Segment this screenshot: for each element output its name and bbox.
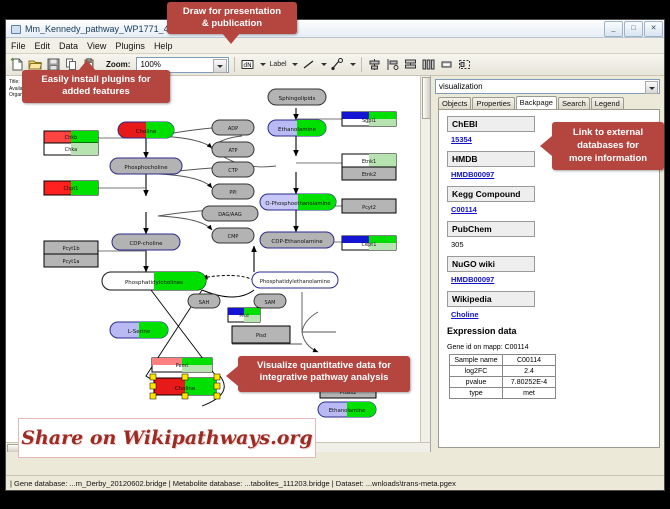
gene-pcyt2: Pcyt2 bbox=[342, 199, 396, 213]
title-bar: Mm_Kennedy_pathway_WP1771_45176.gpml _ □… bbox=[6, 20, 664, 38]
node-ethanolamine-bottom: Ethanolamine bbox=[318, 402, 376, 417]
svg-text:ADP: ADP bbox=[228, 126, 238, 132]
stack-icon[interactable] bbox=[403, 57, 418, 72]
gene-sgpl1: Sgpl1 bbox=[342, 112, 396, 126]
align-center-icon[interactable] bbox=[367, 57, 382, 72]
svg-text:Phosphocholine: Phosphocholine bbox=[124, 165, 168, 171]
node-phosphatidylcholines: Phosphatidylcholines bbox=[102, 272, 206, 290]
svg-text:Pisd: Pisd bbox=[256, 333, 266, 339]
gene-etnk1: Etnk1 bbox=[342, 154, 396, 167]
svg-text:DAG/AAG: DAG/AAG bbox=[218, 212, 242, 218]
table-row: type met bbox=[450, 388, 556, 399]
callout-links-line2: databases for bbox=[577, 140, 639, 151]
node-sphingolipids: Sphingolipids bbox=[268, 89, 326, 105]
node-cmp: CMP bbox=[212, 228, 254, 243]
node-cdp-ethanolamine: CDP-Ethanolamine bbox=[260, 232, 334, 248]
visualization-value: visualization bbox=[439, 82, 483, 91]
svg-text:O-Phosphoethanolamine: O-Phosphoethanolamine bbox=[265, 201, 330, 207]
gene-pemt: Pemt bbox=[152, 358, 212, 372]
svg-text:Chkb: Chkb bbox=[65, 135, 78, 141]
svg-text:Chpt1: Chpt1 bbox=[64, 186, 79, 192]
callout-visualize-line1: Visualize quantitative data for bbox=[257, 360, 391, 371]
node-phosphocholine: Phosphocholine bbox=[110, 158, 182, 174]
maximize-button[interactable]: □ bbox=[624, 21, 643, 37]
section-header-pubchem: PubChem bbox=[447, 221, 535, 237]
gene-etnk2: Etnk2 bbox=[342, 167, 396, 180]
svg-text:CTP: CTP bbox=[228, 168, 238, 174]
cell-label-log2fc: log2FC bbox=[450, 366, 503, 377]
node-atp: ATP bbox=[212, 142, 254, 157]
section-header-wikipedia: Wikipedia bbox=[447, 291, 535, 307]
align-left-icon[interactable] bbox=[385, 57, 400, 72]
node-adp: ADP bbox=[212, 120, 254, 135]
cell-label-type: type bbox=[450, 388, 503, 399]
line-dropdown[interactable] bbox=[319, 56, 327, 74]
callout-plugins: Easily install plugins for added feature… bbox=[22, 70, 170, 103]
menu-item-edit[interactable]: Edit bbox=[35, 41, 51, 51]
callout-links-line3: more information bbox=[569, 153, 647, 164]
node-sah: SAH bbox=[188, 294, 220, 308]
svg-text:Pcyt1a: Pcyt1a bbox=[63, 259, 80, 265]
share-banner: Share on Wikipathways.org bbox=[18, 418, 316, 458]
menu-item-data[interactable]: Data bbox=[59, 41, 78, 51]
table-row: pvalue 7.80252E-4 bbox=[450, 377, 556, 388]
cell-value-type: met bbox=[503, 388, 556, 399]
menu-bar: File Edit Data View Plugins Help bbox=[6, 38, 664, 54]
svg-text:Pcyt2: Pcyt2 bbox=[362, 205, 376, 211]
window-controls: _ □ ✕ bbox=[604, 21, 664, 37]
share-banner-text: Share on Wikipathways.org bbox=[21, 427, 312, 449]
svg-text:Sgpl1: Sgpl1 bbox=[362, 118, 376, 124]
toolbar-separator bbox=[234, 57, 235, 72]
callout-draw-line1: Draw for presentation bbox=[183, 6, 281, 17]
svg-text:ATP: ATP bbox=[228, 148, 237, 154]
svg-text:PPi: PPi bbox=[229, 190, 236, 196]
node-choline-top: Choline bbox=[118, 122, 174, 138]
toolbar-separator-2 bbox=[361, 57, 362, 72]
callout-draw-arrow bbox=[222, 33, 240, 44]
chevron-down-icon[interactable] bbox=[645, 81, 658, 94]
kegg-link[interactable]: C00114 bbox=[451, 205, 651, 214]
callout-plugins-arrow bbox=[78, 60, 96, 71]
gene-id-on-mapp: Gene id on mapp: C00114 bbox=[447, 344, 651, 351]
label-tool-label: Label bbox=[269, 61, 286, 68]
section-header-kegg: Kegg Compound bbox=[447, 186, 535, 202]
svg-text:Choline: Choline bbox=[175, 386, 196, 392]
tab-backpage[interactable]: Backpage bbox=[516, 96, 557, 110]
svg-text:CMP: CMP bbox=[228, 234, 239, 240]
svg-text:L-Serine: L-Serine bbox=[128, 329, 151, 335]
tab-search[interactable]: Search bbox=[558, 97, 590, 110]
panel-tabs: Objects Properties Backpage Search Legen… bbox=[438, 96, 664, 109]
callout-visualize-line2: integrative pathway analysis bbox=[260, 372, 389, 383]
distribute-icon[interactable] bbox=[421, 57, 436, 72]
gene-chka: Chka bbox=[44, 143, 98, 155]
table-row: log2FC 2.4 bbox=[450, 366, 556, 377]
gene-pcyt1b: Pcyt1b bbox=[44, 241, 98, 254]
wikipedia-link[interactable]: Choline bbox=[451, 310, 651, 319]
tab-legend[interactable]: Legend bbox=[591, 97, 624, 110]
pathvisio-icon bbox=[10, 23, 21, 34]
canvas-vscroll-thumb[interactable] bbox=[422, 77, 431, 119]
svg-text:Phosphatidylethanolamine: Phosphatidylethanolamine bbox=[260, 279, 331, 285]
node-dag: DAG/AAG bbox=[202, 206, 258, 221]
label-dropdown[interactable] bbox=[290, 56, 298, 74]
svg-text:Sphingolipids: Sphingolipids bbox=[279, 96, 316, 102]
gene-cept1: Cept1 bbox=[342, 236, 396, 250]
cell-value-log2fc: 2.4 bbox=[503, 366, 556, 377]
svg-text:Chka: Chka bbox=[65, 147, 78, 153]
callout-draw: Draw for presentation & publication bbox=[167, 2, 297, 34]
svg-text:CDP-choline: CDP-choline bbox=[129, 241, 163, 247]
callout-links-arrow bbox=[540, 136, 552, 156]
close-button[interactable]: ✕ bbox=[644, 21, 663, 37]
menu-item-plugins[interactable]: Plugins bbox=[115, 41, 145, 51]
section-header-hmdb: HMDB bbox=[447, 151, 535, 167]
cell-value-pvalue: 7.80252E-4 bbox=[503, 377, 556, 388]
zoom-value: 100% bbox=[140, 60, 160, 69]
table-row: Sample name C00114 bbox=[450, 355, 556, 366]
cell-value-sample-name: C00114 bbox=[503, 355, 556, 366]
svg-text:Phosphatidylcholines: Phosphatidylcholines bbox=[125, 280, 183, 286]
anchor-icon[interactable] bbox=[330, 57, 345, 72]
tab-objects[interactable]: Objects bbox=[438, 97, 471, 110]
svg-text:SAM: SAM bbox=[264, 300, 275, 306]
gene-pisd2: Pisd bbox=[232, 326, 290, 343]
svg-text:Etnk1: Etnk1 bbox=[362, 159, 376, 165]
svg-text:dN: dN bbox=[244, 62, 252, 69]
cell-label-pvalue: pvalue bbox=[450, 377, 503, 388]
tab-properties[interactable]: Properties bbox=[472, 97, 514, 110]
menu-item-view[interactable]: View bbox=[87, 41, 106, 51]
svg-text:CDP-Ethanolamine: CDP-Ethanolamine bbox=[271, 239, 323, 245]
line-icon[interactable] bbox=[301, 57, 316, 72]
pathway-canvas[interactable]: Title: Availa Organ bbox=[6, 76, 431, 452]
gene-pisd: Pisd bbox=[228, 308, 260, 322]
anchor-dropdown[interactable] bbox=[348, 56, 356, 74]
node-o-phosphoethanolamine: O-Phosphoethanolamine bbox=[260, 194, 336, 210]
svg-text:Ethanolamine: Ethanolamine bbox=[329, 408, 366, 414]
expression-data-heading: Expression data bbox=[447, 326, 651, 336]
gene-chkb: Chkb bbox=[44, 131, 98, 143]
svg-text:Choline: Choline bbox=[136, 129, 157, 135]
gene-pcyt1a: Pcyt1a bbox=[44, 254, 98, 267]
menu-item-help[interactable]: Help bbox=[154, 41, 173, 51]
section-header-nugo: NuGO wiki bbox=[447, 256, 535, 272]
node-phosphatidylethanolamine: Phosphatidylethanolamine bbox=[252, 272, 338, 288]
node-cdp-choline: CDP-choline bbox=[112, 234, 180, 250]
callout-plugins-line2: added features bbox=[62, 86, 130, 97]
svg-text:Pemt: Pemt bbox=[176, 363, 189, 369]
svg-text:Pcyt1b: Pcyt1b bbox=[62, 246, 79, 252]
minimize-button[interactable]: _ bbox=[604, 21, 623, 37]
callout-links: Link to external databases for more info… bbox=[552, 122, 664, 170]
cell-label-sample-name: Sample name bbox=[450, 355, 503, 366]
node-ctp: CTP bbox=[212, 162, 254, 177]
callout-links-line1: Link to external bbox=[573, 127, 643, 138]
node-l-serine-left: L-Serine bbox=[110, 322, 168, 338]
node-choline-selected: Choline bbox=[150, 374, 220, 399]
datanode-icon[interactable]: dN bbox=[240, 57, 255, 72]
datanode-dropdown[interactable] bbox=[258, 56, 266, 74]
node-sam: SAM bbox=[254, 294, 286, 308]
menu-item-file[interactable]: File bbox=[11, 41, 26, 51]
svg-text:Pisd: Pisd bbox=[239, 313, 248, 319]
svg-text:Etnk2: Etnk2 bbox=[362, 172, 376, 178]
callout-draw-line2: & publication bbox=[202, 18, 262, 29]
node-ethanolamine-top: Ethanolamine bbox=[268, 120, 326, 136]
callout-visualize-arrow bbox=[226, 366, 238, 386]
status-bar-text: | Gene database: ...m_Derby_20120602.bri… bbox=[10, 479, 456, 488]
group-icon[interactable] bbox=[439, 57, 454, 72]
gene-chpt1: Chpt1 bbox=[44, 181, 98, 195]
section-header-chebi: ChEBI bbox=[447, 116, 535, 132]
callout-visualize: Visualize quantitative data for integrat… bbox=[238, 356, 410, 392]
svg-text:Cept1: Cept1 bbox=[362, 242, 377, 248]
nugo-link[interactable]: HMDB00097 bbox=[451, 275, 651, 284]
chevron-down-icon[interactable] bbox=[213, 59, 227, 73]
canvas-vertical-scrollbar[interactable] bbox=[420, 76, 430, 452]
svg-text:SAH: SAH bbox=[199, 300, 210, 306]
status-bar: | Gene database: ...m_Derby_20120602.bri… bbox=[6, 475, 664, 490]
pubchem-value: 305 bbox=[451, 240, 651, 249]
pathway-graphics[interactable]: Sphingolipids Sgpl1 Ethanolamine bbox=[6, 76, 430, 452]
visualization-combobox[interactable]: visualization bbox=[435, 79, 660, 94]
expression-table: Sample name C00114 log2FC 2.4 pvalue 7.8… bbox=[449, 354, 556, 399]
node-ppi: PPi bbox=[212, 184, 254, 199]
ungroup-icon[interactable] bbox=[457, 57, 472, 72]
hmdb-link[interactable]: HMDB00097 bbox=[451, 170, 651, 179]
zoom-label: Zoom: bbox=[106, 60, 130, 69]
callout-plugins-line1: Easily install plugins for bbox=[41, 74, 150, 85]
svg-text:Ethanolamine: Ethanolamine bbox=[278, 127, 317, 133]
